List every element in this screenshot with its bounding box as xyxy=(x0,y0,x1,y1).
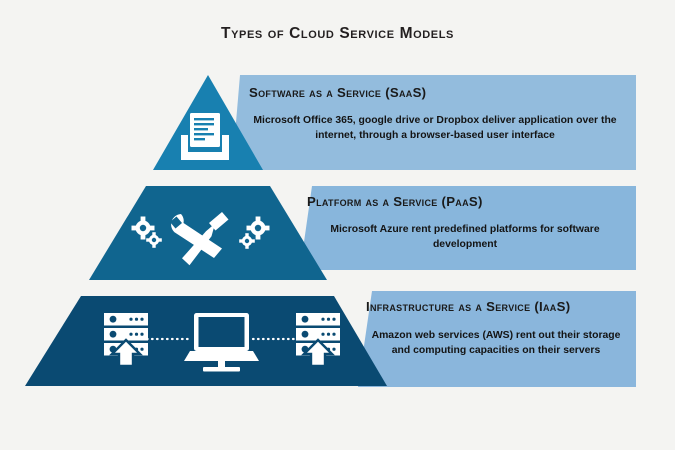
tier-heading-iaas: Infrastructure as a Service (IaaS) xyxy=(366,299,570,314)
tier-panel-paas: Platform as a Service (PaaS) Microsoft A… xyxy=(300,186,636,270)
tier-heading-paas: Platform as a Service (PaaS) xyxy=(307,194,483,209)
tier-panel-saas: Software as a Service (SaaS) Microsoft O… xyxy=(232,75,636,170)
tier-body-paas: Microsoft Azure rent predefined platform… xyxy=(320,222,610,252)
tier-heading-saas: Software as a Service (SaaS) xyxy=(249,85,426,100)
pyramid-tier-iaas xyxy=(25,296,387,386)
tier-body-iaas: Amazon web services (AWS) rent out their… xyxy=(370,328,622,358)
page-title: Types of Cloud Service Models xyxy=(0,25,675,43)
tier-panel-iaas: Infrastructure as a Service (IaaS) Amazo… xyxy=(358,291,636,387)
tier-body-saas: Microsoft Office 365, google drive or Dr… xyxy=(249,113,621,143)
